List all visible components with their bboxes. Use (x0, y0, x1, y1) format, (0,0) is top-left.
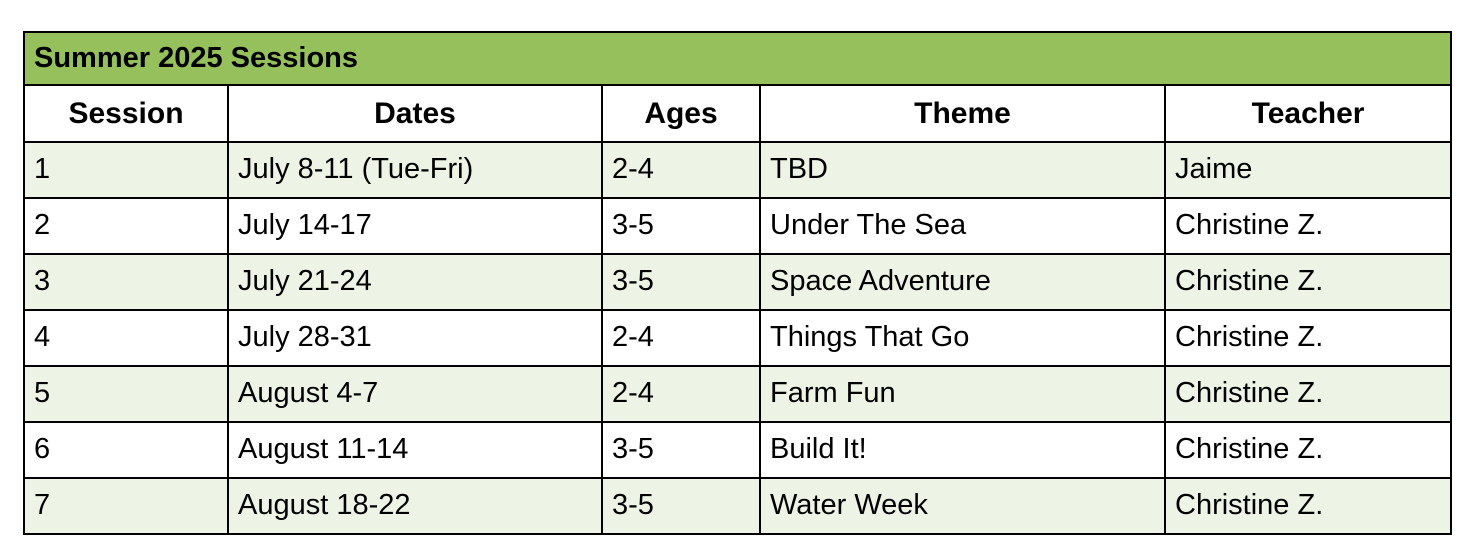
cell-teacher: Christine Z. (1165, 422, 1451, 478)
cell-session: 4 (24, 310, 228, 366)
cell-theme: Build It! (760, 422, 1165, 478)
cell-dates: July 28-31 (228, 310, 602, 366)
cell-ages: 2-4 (602, 142, 760, 198)
table-row: 4 July 28-31 2-4 Things That Go Christin… (24, 310, 1451, 366)
column-header-session: Session (24, 85, 228, 142)
cell-ages: 2-4 (602, 366, 760, 422)
column-header-teacher: Teacher (1165, 85, 1451, 142)
table-row: 1 July 8-11 (Tue-Fri) 2-4 TBD Jaime (24, 142, 1451, 198)
cell-session: 2 (24, 198, 228, 254)
table-row: 3 July 21-24 3-5 Space Adventure Christi… (24, 254, 1451, 310)
cell-teacher: Christine Z. (1165, 366, 1451, 422)
cell-dates: August 4-7 (228, 366, 602, 422)
table-header-row: Session Dates Ages Theme Teacher (24, 85, 1451, 142)
cell-ages: 3-5 (602, 478, 760, 534)
table-title: Summer 2025 Sessions (24, 32, 1451, 85)
cell-teacher: Christine Z. (1165, 198, 1451, 254)
cell-session: 5 (24, 366, 228, 422)
cell-teacher: Christine Z. (1165, 254, 1451, 310)
table-title-row: Summer 2025 Sessions (24, 32, 1451, 85)
cell-teacher: Christine Z. (1165, 478, 1451, 534)
table-row: 5 August 4-7 2-4 Farm Fun Christine Z. (24, 366, 1451, 422)
cell-session: 3 (24, 254, 228, 310)
cell-teacher: Christine Z. (1165, 310, 1451, 366)
cell-session: 6 (24, 422, 228, 478)
table-row: 6 August 11-14 3-5 Build It! Christine Z… (24, 422, 1451, 478)
table-row: 7 August 18-22 3-5 Water Week Christine … (24, 478, 1451, 534)
cell-theme: Space Adventure (760, 254, 1165, 310)
cell-ages: 2-4 (602, 310, 760, 366)
cell-theme: Water Week (760, 478, 1165, 534)
page-root: Summer 2025 Sessions Session Dates Ages … (0, 0, 1474, 550)
cell-theme: Farm Fun (760, 366, 1165, 422)
column-header-theme: Theme (760, 85, 1165, 142)
cell-theme: Things That Go (760, 310, 1165, 366)
cell-ages: 3-5 (602, 198, 760, 254)
table-row: 2 July 14-17 3-5 Under The Sea Christine… (24, 198, 1451, 254)
cell-session: 7 (24, 478, 228, 534)
cell-teacher: Jaime (1165, 142, 1451, 198)
cell-dates: August 18-22 (228, 478, 602, 534)
cell-dates: July 14-17 (228, 198, 602, 254)
column-header-dates: Dates (228, 85, 602, 142)
cell-ages: 3-5 (602, 254, 760, 310)
summer-sessions-table: Summer 2025 Sessions Session Dates Ages … (23, 31, 1452, 535)
cell-dates: August 11-14 (228, 422, 602, 478)
cell-session: 1 (24, 142, 228, 198)
cell-ages: 3-5 (602, 422, 760, 478)
cell-theme: TBD (760, 142, 1165, 198)
column-header-ages: Ages (602, 85, 760, 142)
cell-dates: July 21-24 (228, 254, 602, 310)
cell-theme: Under The Sea (760, 198, 1165, 254)
cell-dates: July 8-11 (Tue-Fri) (228, 142, 602, 198)
